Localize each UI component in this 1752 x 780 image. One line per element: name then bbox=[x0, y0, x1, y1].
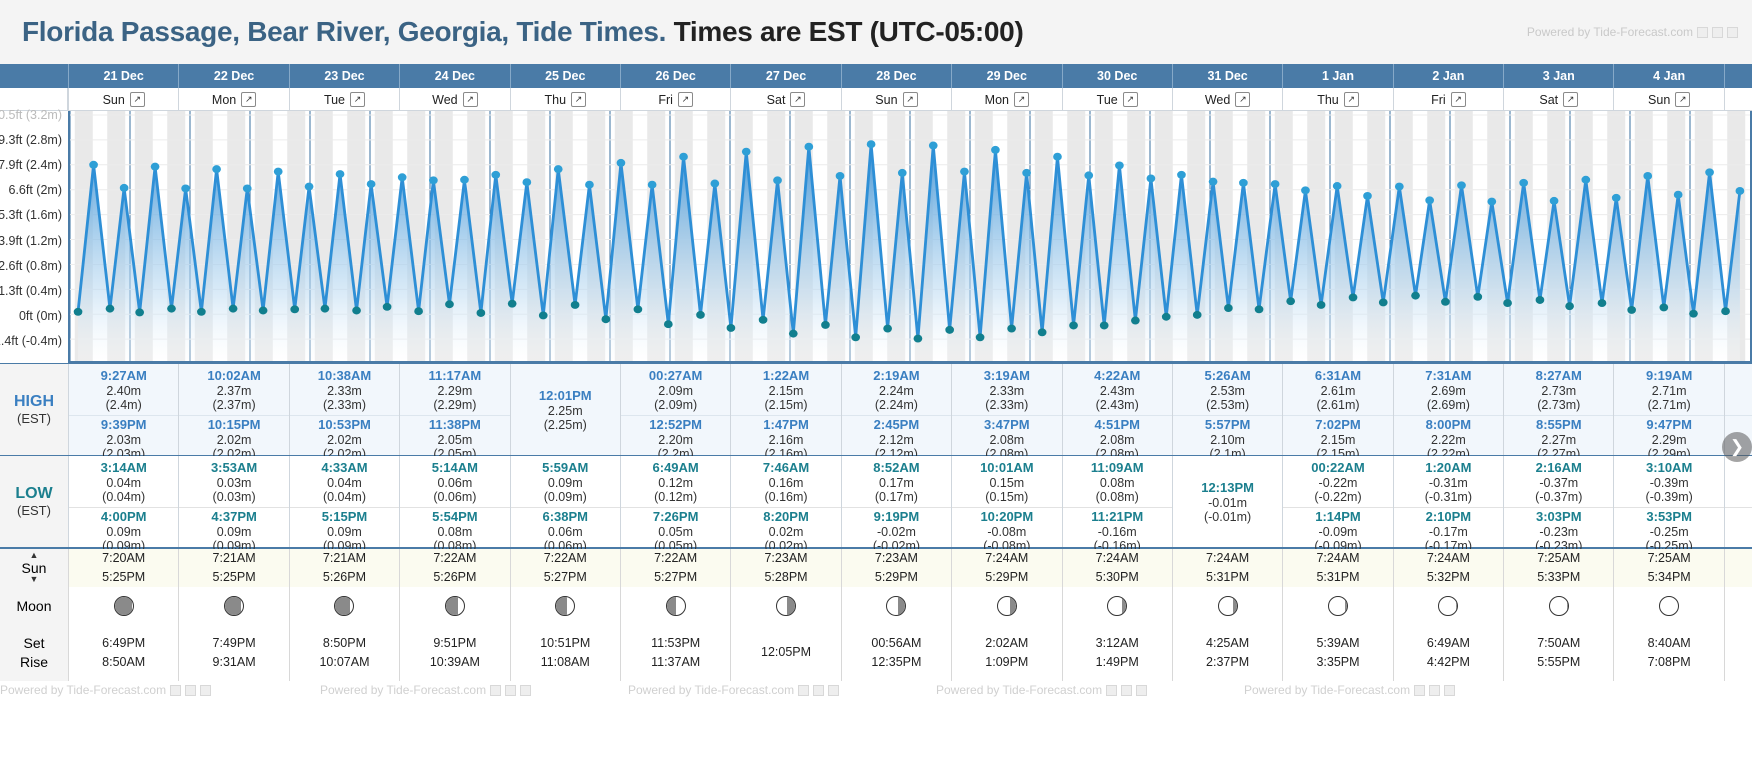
tide-time: 2:16AM bbox=[1504, 461, 1613, 476]
tide-entry: 1:22AM2.15m(2.15m) bbox=[731, 367, 840, 415]
weekday-cell[interactable]: Wed↗ bbox=[399, 88, 509, 111]
date-header-cell[interactable]: 31 Dec bbox=[1172, 64, 1282, 88]
tide-height: 0.17m bbox=[842, 476, 951, 490]
tide-height: 0.06m bbox=[511, 525, 620, 539]
y-axis-tick-label: 0ft (0m) bbox=[19, 309, 62, 323]
sunrise-time: 7:22AM bbox=[654, 549, 697, 568]
tide-entry: 9:27AM2.40m(2.4m) bbox=[69, 367, 178, 415]
tide-height-alt: (2.29m) bbox=[400, 398, 509, 412]
date-header-cell[interactable]: 29 Dec bbox=[951, 64, 1061, 88]
tide-entry: 7:31AM2.69m(2.69m) bbox=[1394, 367, 1503, 415]
tide-height-alt: (0.15m) bbox=[952, 490, 1061, 504]
moonrise-time: 10:39AM bbox=[430, 653, 480, 672]
date-header-cell[interactable]: 26 Dec bbox=[620, 64, 730, 88]
tide-time: 2:45PM bbox=[842, 418, 951, 433]
tide-height-alt: (0.06m) bbox=[400, 490, 509, 504]
tide-time: 11:17AM bbox=[400, 369, 509, 384]
tide-time: 11:38PM bbox=[400, 418, 509, 433]
tide-entry: 7:46AM0.16m(0.16m) bbox=[731, 459, 840, 507]
moon-phase-icon bbox=[445, 596, 465, 616]
tide-entry: 5:26AM2.53m(2.53m) bbox=[1173, 367, 1282, 415]
moonset-time: 00:56AM bbox=[871, 634, 921, 653]
tide-time: 00:22AM bbox=[1283, 461, 1392, 476]
date-header-gutter bbox=[0, 64, 68, 88]
moonrise-time: 11:37AM bbox=[651, 653, 700, 672]
footer-powered-3: Powered by Tide-Forecast.com bbox=[628, 683, 839, 697]
moonset-time: 7:49PM bbox=[213, 634, 256, 653]
tide-time: 6:49AM bbox=[621, 461, 730, 476]
tide-height-alt: (0.09m) bbox=[511, 490, 620, 504]
moon-cell bbox=[1062, 587, 1172, 625]
tide-height: 0.09m bbox=[511, 476, 620, 490]
date-header-cell[interactable]: 30 Dec bbox=[1062, 64, 1172, 88]
tide-height: 2.27m bbox=[1504, 433, 1613, 447]
tide-entry: 5:59AM0.09m(0.09m) bbox=[511, 459, 620, 507]
tide-time: 8:00PM bbox=[1394, 418, 1503, 433]
tide-time: 4:51PM bbox=[1063, 418, 1172, 433]
moon-setrise-cell: 9:51PM10:39AM bbox=[399, 625, 509, 681]
tide-height: 2.29m bbox=[400, 384, 509, 398]
moonrise-label-text: Rise bbox=[20, 653, 48, 672]
tide-time: 4:02AM bbox=[1725, 461, 1752, 476]
moonrise-time: 11:08AM bbox=[541, 653, 590, 672]
weekday-label: Wed bbox=[432, 93, 457, 107]
moon-cell bbox=[1613, 587, 1723, 625]
tide-height-alt: (2.37m) bbox=[179, 398, 288, 412]
sun-label: ▲ Sun ▼ bbox=[0, 549, 68, 587]
tide-time: 1:14PM bbox=[1283, 510, 1392, 525]
date-header-cell[interactable]: 22 Dec bbox=[178, 64, 288, 88]
moon-cell bbox=[951, 587, 1061, 625]
tide-entry: 4:33AM0.04m(0.04m) bbox=[290, 459, 399, 507]
sun-cell: 7:25AM5:33PM bbox=[1503, 549, 1613, 587]
sun-cell: 7:23AM5:29PM bbox=[841, 549, 951, 587]
moonset-time: 10:51PM bbox=[540, 634, 590, 653]
tide-time: 8:52AM bbox=[842, 461, 951, 476]
expand-icon[interactable]: ↗ bbox=[790, 92, 805, 107]
moon-phase-icon bbox=[334, 596, 354, 616]
date-header-cell[interactable]: 4 Jan bbox=[1613, 64, 1723, 88]
tide-time: 4:39PM bbox=[1725, 510, 1752, 525]
low-tide-cell: 12:13PM-0.01m(-0.01m) bbox=[1172, 456, 1282, 547]
sunrise-time: 7:24AM bbox=[985, 549, 1028, 568]
badge-icon-2 bbox=[1712, 27, 1723, 38]
expand-icon[interactable]: ↗ bbox=[1123, 92, 1138, 107]
expand-icon[interactable]: ↗ bbox=[1451, 92, 1466, 107]
tide-height-alt: (-0.37m) bbox=[1504, 490, 1613, 504]
scroll-right-button[interactable]: ❯ bbox=[1722, 432, 1752, 462]
footer-powered-4: Powered by Tide-Forecast.com bbox=[936, 683, 1147, 697]
date-header-cell[interactable]: 5 Jan bbox=[1724, 64, 1752, 88]
date-header-cell[interactable]: 23 Dec bbox=[289, 64, 399, 88]
tide-height: 0.04m bbox=[290, 476, 399, 490]
tide-height: 0.05m bbox=[621, 525, 730, 539]
y-axis-tick-label: -1.4ft (-0.4m) bbox=[0, 334, 62, 348]
weekday-label: Fri bbox=[1431, 93, 1446, 107]
expand-icon[interactable]: ↗ bbox=[350, 92, 365, 107]
tide-entry: 12:13PM-0.01m(-0.01m) bbox=[1173, 479, 1282, 527]
high-tide-label: HIGH (EST) bbox=[0, 364, 68, 455]
badge-icon-3 bbox=[1727, 27, 1738, 38]
tide-height-alt: (0.03m) bbox=[179, 490, 288, 504]
expand-icon[interactable]: ↗ bbox=[1014, 92, 1029, 107]
tide-height: -0.31m bbox=[1394, 476, 1503, 490]
tide-height-alt: (2.71m) bbox=[1614, 398, 1723, 412]
tide-entry: 4:22AM2.43m(2.43m) bbox=[1063, 367, 1172, 415]
tide-time: 5:54PM bbox=[400, 510, 509, 525]
weekday-label: Mon bbox=[985, 93, 1009, 107]
sunset-time: 5:30PM bbox=[1096, 568, 1139, 587]
tide-time: 3:47PM bbox=[952, 418, 1061, 433]
tide-height: 2.37m bbox=[179, 384, 288, 398]
low-tide-cell: 3:10AM-0.39m(-0.39m)3:53PM-0.25m(-0.25m) bbox=[1613, 456, 1723, 547]
date-header-cell[interactable]: 2 Jan bbox=[1393, 64, 1503, 88]
high-tide-cell: 5:26AM2.53m(2.53m)5:57PM2.10m(2.1m) bbox=[1172, 364, 1282, 455]
moonrise-time: 12:05PM bbox=[761, 643, 811, 662]
moon-row: Moon bbox=[0, 587, 1752, 625]
tide-time: 11:09AM bbox=[1063, 461, 1172, 476]
weekday-cell[interactable]: Thu↗ bbox=[1282, 88, 1392, 111]
weekday-label: Fri bbox=[658, 93, 673, 107]
moon-setrise-cell: 12:05PM bbox=[730, 625, 840, 681]
moon-setrise-cell: 2:02AM1:09PM bbox=[951, 625, 1061, 681]
tide-time: 3:53PM bbox=[1614, 510, 1723, 525]
tide-height: 2.02m bbox=[290, 433, 399, 447]
tide-height-alt: (2.69m) bbox=[1394, 398, 1503, 412]
tide-height: 0.16m bbox=[731, 476, 840, 490]
tide-height: 0.09m bbox=[290, 525, 399, 539]
sun-cell: 7:25AM5:34PM bbox=[1613, 549, 1723, 587]
tide-time: 6:31AM bbox=[1283, 369, 1392, 384]
weekday-cell[interactable]: Mon↗ bbox=[951, 88, 1061, 111]
high-tide-cell: 4:22AM2.43m(2.43m)4:51PM2.08m(2.08m) bbox=[1062, 364, 1172, 455]
low-tide-row: LOW (EST) 3:14AM0.04m(0.04m)4:00PM0.09m(… bbox=[0, 455, 1752, 547]
high-tide-label-text: HIGH bbox=[14, 393, 54, 411]
tide-height-alt: (-0.22m) bbox=[1283, 490, 1392, 504]
sunset-time: 5:31PM bbox=[1206, 568, 1249, 587]
tide-curve bbox=[70, 111, 1750, 361]
moon-setrise-cell: 6:49PM8:50AM bbox=[68, 625, 178, 681]
tide-time: 7:46AM bbox=[731, 461, 840, 476]
tide-entry: 10:09AM2.64m(2.64m) bbox=[1725, 367, 1752, 415]
weekday-label: Tue bbox=[324, 93, 345, 107]
moon-phase-icon bbox=[555, 596, 575, 616]
tide-height: -0.02m bbox=[842, 525, 951, 539]
moon-setrise-cell: 4:25AM2:37PM bbox=[1172, 625, 1282, 681]
moon-cell bbox=[1724, 587, 1752, 625]
weekday-cell[interactable]: Tue↗ bbox=[289, 88, 399, 111]
sun-cells: 7:20AM5:25PM7:21AM5:25PM7:21AM5:26PM7:22… bbox=[68, 549, 1752, 587]
tide-time: 5:15PM bbox=[290, 510, 399, 525]
tide-height: 2.22m bbox=[1394, 433, 1503, 447]
tide-height-alt: (2.53m) bbox=[1173, 398, 1282, 412]
moon-setrise-cell: 11:53PM11:37AM bbox=[620, 625, 730, 681]
weekday-cell[interactable]: Thu↗ bbox=[510, 88, 620, 111]
moonset-time: 8:50PM bbox=[323, 634, 366, 653]
tide-height: 0.03m bbox=[179, 476, 288, 490]
y-axis-tick-label: 6.6ft (2m) bbox=[9, 183, 63, 197]
weekday-cell[interactable]: Sat↗ bbox=[1503, 88, 1613, 111]
tide-time: 8:20PM bbox=[731, 510, 840, 525]
moonset-time: 7:50AM bbox=[1537, 634, 1580, 653]
sunrise-time: 7:24AM bbox=[1316, 549, 1359, 568]
tide-time: 12:01PM bbox=[511, 389, 620, 404]
sun-cell: 7:24AM5:29PM bbox=[951, 549, 1061, 587]
date-header-cell[interactable]: 27 Dec bbox=[730, 64, 840, 88]
moon-setrise-cell: 9:22AM8:17PM bbox=[1724, 625, 1752, 681]
tide-height: 2.15m bbox=[1283, 433, 1392, 447]
moon-cells bbox=[68, 587, 1752, 625]
moonrise-time: 3:35PM bbox=[1316, 653, 1359, 672]
tide-entry: 8:27AM2.73m(2.73m) bbox=[1504, 367, 1613, 415]
weekday-gutter bbox=[0, 88, 68, 110]
powered-by-label: Powered by Tide-Forecast.com bbox=[1527, 25, 1693, 39]
low-tide-cell: 5:14AM0.06m(0.06m)5:54PM0.08m(0.08m) bbox=[399, 456, 509, 547]
weekday-cell[interactable]: Sun↗ bbox=[68, 88, 178, 111]
date-header-cell[interactable]: 1 Jan bbox=[1282, 64, 1392, 88]
sunset-time: 5:32PM bbox=[1427, 568, 1470, 587]
tide-height-alt: (0.08m) bbox=[1063, 490, 1172, 504]
sunrise-time: 7:24AM bbox=[1096, 549, 1139, 568]
moonset-time: 4:25AM bbox=[1206, 634, 1249, 653]
expand-icon[interactable]: ↗ bbox=[241, 92, 256, 107]
y-axis-tick-label: 9.3ft (2.8m) bbox=[0, 133, 62, 147]
expand-icon[interactable]: ↗ bbox=[1563, 92, 1578, 107]
expand-icon[interactable]: ↗ bbox=[903, 92, 918, 107]
high-tide-cell: 9:27AM2.40m(2.4m)9:39PM2.03m(2.03m) bbox=[68, 364, 178, 455]
tide-height: 2.29m bbox=[1614, 433, 1723, 447]
low-tide-cell: 1:20AM-0.31m(-0.31m)2:10PM-0.17m(-0.17m) bbox=[1393, 456, 1503, 547]
high-tide-cells: 9:27AM2.40m(2.4m)9:39PM2.03m(2.03m)10:02… bbox=[68, 364, 1752, 455]
date-header-cell[interactable]: 24 Dec bbox=[399, 64, 509, 88]
expand-icon[interactable]: ↗ bbox=[1675, 92, 1690, 107]
moon-cell bbox=[289, 587, 399, 625]
tide-entry: 00:27AM2.09m(2.09m) bbox=[621, 367, 730, 415]
tide-time: 1:47PM bbox=[731, 418, 840, 433]
weekday-cell[interactable]: Sun↗ bbox=[1613, 88, 1723, 111]
tide-height: 2.33m bbox=[952, 384, 1061, 398]
date-header-cell[interactable]: 25 Dec bbox=[510, 64, 620, 88]
weekday-cell[interactable]: Fri↗ bbox=[620, 88, 730, 111]
page-title-location: Florida Passage, Bear River, Georgia, Ti… bbox=[22, 16, 666, 47]
tide-height: 0.15m bbox=[952, 476, 1061, 490]
sun-cell: 7:24AM5:32PM bbox=[1393, 549, 1503, 587]
weekday-cell[interactable]: Fri↗ bbox=[1393, 88, 1503, 111]
date-header-cell[interactable]: 28 Dec bbox=[841, 64, 951, 88]
tide-height: 2.40m bbox=[69, 384, 178, 398]
sunrise-time: 7:22AM bbox=[544, 549, 587, 568]
sun-label-text: Sun bbox=[22, 561, 47, 576]
tide-height: 2.24m bbox=[842, 384, 951, 398]
tide-height: 2.03m bbox=[69, 433, 178, 447]
sunrise-time: 7:25AM bbox=[1537, 549, 1580, 568]
tide-height: 2.53m bbox=[1173, 384, 1282, 398]
tide-height: 0.12m bbox=[621, 476, 730, 490]
moon-setrise-cell: 6:49AM4:42PM bbox=[1393, 625, 1503, 681]
tide-entry: 5:14AM0.06m(0.06m) bbox=[400, 459, 509, 507]
tide-entry: 3:19AM2.33m(2.33m) bbox=[952, 367, 1061, 415]
moon-cell bbox=[178, 587, 288, 625]
moon-phase-icon bbox=[114, 596, 134, 616]
tide-time: 8:55PM bbox=[1504, 418, 1613, 433]
moonset-time: 6:49PM bbox=[102, 634, 145, 653]
tide-height-alt: (2.64m) bbox=[1725, 398, 1752, 412]
low-tide-cell: 10:01AM0.15m(0.15m)10:20PM-0.08m(-0.08m) bbox=[951, 456, 1061, 547]
tide-time: 7:26PM bbox=[621, 510, 730, 525]
expand-icon[interactable]: ↗ bbox=[1235, 92, 1250, 107]
moonrise-time: 12:35PM bbox=[871, 653, 921, 672]
tide-time: 12:13PM bbox=[1173, 481, 1282, 496]
sun-cell: 7:22AM5:27PM bbox=[620, 549, 730, 587]
powered-by-header: Powered by Tide-Forecast.com bbox=[1527, 25, 1738, 39]
tide-time: 10:15PM bbox=[179, 418, 288, 433]
tide-time: 10:20PM bbox=[952, 510, 1061, 525]
moonset-time: 8:40AM bbox=[1648, 634, 1691, 653]
sunrise-time: 7:24AM bbox=[1427, 549, 1470, 568]
tide-height: 2.61m bbox=[1283, 384, 1392, 398]
moonrise-time: 2:37PM bbox=[1206, 653, 1249, 672]
sunrise-time: 7:20AM bbox=[102, 549, 145, 568]
moon-setrise-cell: 7:50AM5:55PM bbox=[1503, 625, 1613, 681]
tide-time: 9:19AM bbox=[1614, 369, 1723, 384]
high-tide-cell: 11:17AM2.29m(2.29m)11:38PM2.05m(2.05m) bbox=[399, 364, 509, 455]
sunset-time: 5:31PM bbox=[1316, 568, 1359, 587]
weekday-label: Mon bbox=[212, 93, 236, 107]
moon-cell bbox=[68, 587, 178, 625]
sunset-time: 5:25PM bbox=[213, 568, 256, 587]
page-title: Florida Passage, Bear River, Georgia, Ti… bbox=[22, 16, 1023, 48]
moonset-time: 11:53PM bbox=[651, 634, 700, 653]
tide-time: 6:38PM bbox=[511, 510, 620, 525]
tide-sheet: 21 Dec22 Dec23 Dec24 Dec25 Dec26 Dec27 D… bbox=[0, 64, 1752, 703]
tide-height: -0.09m bbox=[1283, 525, 1392, 539]
tide-height: 2.20m bbox=[621, 433, 730, 447]
tide-height: -0.01m bbox=[1173, 496, 1282, 510]
moon-setrise-cell: 3:12AM1:49PM bbox=[1062, 625, 1172, 681]
tide-time: 10:01AM bbox=[952, 461, 1061, 476]
weekday-cells: Sun↗Mon↗Tue↗Wed↗Thu↗Fri↗Sat↗Sun↗Mon↗Tue↗… bbox=[68, 88, 1752, 110]
moonrise-time: 9:31AM bbox=[213, 653, 256, 672]
tide-time: 10:02AM bbox=[179, 369, 288, 384]
expand-icon[interactable]: ↗ bbox=[571, 92, 586, 107]
moon-setrise-cell: 00:56AM12:35PM bbox=[841, 625, 951, 681]
y-axis-tick-label: 5.3ft (1.6m) bbox=[0, 208, 62, 222]
tide-entry: 11:17AM2.29m(2.29m) bbox=[400, 367, 509, 415]
moonrise-time: 1:49PM bbox=[1096, 653, 1139, 672]
moon-cell bbox=[841, 587, 951, 625]
low-tide-cell: 00:22AM-0.22m(-0.22m)1:14PM-0.09m(-0.09m… bbox=[1282, 456, 1392, 547]
tide-entry: 3:53AM0.03m(0.03m) bbox=[179, 459, 288, 507]
tide-height: 2.71m bbox=[1614, 384, 1723, 398]
low-tide-cell: 3:53AM0.03m(0.03m)4:37PM0.09m(0.09m) bbox=[178, 456, 288, 547]
moonrise-time: 5:55PM bbox=[1537, 653, 1580, 672]
tide-time: 11:21PM bbox=[1063, 510, 1172, 525]
high-tide-row: HIGH (EST) 9:27AM2.40m(2.4m)9:39PM2.03m(… bbox=[0, 363, 1752, 455]
tide-height-alt: (0.04m) bbox=[290, 490, 399, 504]
weekday-label: Sat bbox=[1539, 93, 1558, 107]
sun-row: ▲ Sun ▼ 7:20AM5:25PM7:21AM5:25PM7:21AM5:… bbox=[0, 547, 1752, 587]
tide-height: -0.23m bbox=[1504, 525, 1613, 539]
date-header-cell[interactable]: 3 Jan bbox=[1503, 64, 1613, 88]
tide-height-alt: (2.43m) bbox=[1063, 398, 1172, 412]
tide-height-alt: (-0.37m) bbox=[1725, 490, 1752, 504]
expand-icon[interactable]: ↗ bbox=[1344, 92, 1359, 107]
tide-time: 3:19AM bbox=[952, 369, 1061, 384]
sunset-time: 5:26PM bbox=[433, 568, 476, 587]
sunrise-time: 7:23AM bbox=[875, 549, 918, 568]
weekday-cell[interactable]: Mon↗ bbox=[178, 88, 288, 111]
tide-entry: 3:14AM0.04m(0.04m) bbox=[69, 459, 178, 507]
tide-entry: 10:01AM0.15m(0.15m) bbox=[952, 459, 1061, 507]
tide-time: 1:20AM bbox=[1394, 461, 1503, 476]
moonrise-time: 10:07AM bbox=[319, 653, 369, 672]
expand-icon[interactable]: ↗ bbox=[463, 92, 478, 107]
moon-setrise-cell: 5:39AM3:35PM bbox=[1282, 625, 1392, 681]
moon-cell bbox=[620, 587, 730, 625]
expand-icon[interactable]: ↗ bbox=[130, 92, 145, 107]
weekday-cell[interactable]: Tue↗ bbox=[1062, 88, 1172, 111]
low-tide-label: LOW (EST) bbox=[0, 456, 68, 547]
weekday-label: Tue bbox=[1097, 93, 1118, 107]
moonrise-time: 7:08PM bbox=[1648, 653, 1691, 672]
tide-time: 7:31AM bbox=[1394, 369, 1503, 384]
weekday-cell[interactable]: Wed↗ bbox=[1172, 88, 1282, 111]
low-tide-cell: 5:59AM0.09m(0.09m)6:38PM0.06m(0.06m) bbox=[510, 456, 620, 547]
moonset-label-text: Set bbox=[23, 634, 44, 653]
sunrise-time: 7:21AM bbox=[213, 549, 256, 568]
tide-height: -0.39m bbox=[1614, 476, 1723, 490]
tide-entry: 12:01PM2.25m(2.25m) bbox=[511, 387, 620, 435]
moon-phase-icon bbox=[1659, 596, 1679, 616]
tide-time: 2:10PM bbox=[1394, 510, 1503, 525]
tide-entry: 6:49AM0.12m(0.12m) bbox=[621, 459, 730, 507]
sun-cell: 7:24AM5:30PM bbox=[1062, 549, 1172, 587]
badge-icon-1 bbox=[1697, 27, 1708, 38]
moon-phase-icon bbox=[666, 596, 686, 616]
tide-height-alt: (2.61m) bbox=[1283, 398, 1392, 412]
tide-height: 0.06m bbox=[400, 476, 509, 490]
moon-setrise-cell: 10:51PM11:08AM bbox=[510, 625, 620, 681]
tide-time: 3:14AM bbox=[69, 461, 178, 476]
weekday-cell[interactable]: Sun↗ bbox=[841, 88, 951, 111]
tide-time: 3:03PM bbox=[1504, 510, 1613, 525]
tide-time: 1:22AM bbox=[731, 369, 840, 384]
high-tide-cell: 3:19AM2.33m(2.33m)3:47PM2.08m(2.08m) bbox=[951, 364, 1061, 455]
weekday-cell[interactable]: Mon↗ bbox=[1724, 88, 1752, 111]
tide-height: 0.02m bbox=[731, 525, 840, 539]
tide-entry: 2:16AM-0.37m(-0.37m) bbox=[1504, 459, 1613, 507]
weekday-cell[interactable]: Sat↗ bbox=[730, 88, 840, 111]
weekday-label: Sun bbox=[1648, 93, 1670, 107]
expand-icon[interactable]: ↗ bbox=[678, 92, 693, 107]
tide-height: 2.15m bbox=[731, 384, 840, 398]
moon-phase-icon bbox=[224, 596, 244, 616]
sunrise-time: 7:21AM bbox=[323, 549, 366, 568]
date-header-cell[interactable]: 21 Dec bbox=[68, 64, 178, 88]
moon-setrise-cell: 8:50PM10:07AM bbox=[289, 625, 399, 681]
moonset-time: 2:02AM bbox=[985, 634, 1028, 653]
tide-height-alt: (2.25m) bbox=[511, 418, 620, 432]
moonset-time: 3:12AM bbox=[1096, 634, 1139, 653]
tide-entry: 00:22AM-0.22m(-0.22m) bbox=[1283, 459, 1392, 507]
tide-height: 2.08m bbox=[952, 433, 1061, 447]
sun-cell: 7:23AM5:28PM bbox=[730, 549, 840, 587]
high-tide-cell: 10:02AM2.37m(2.37m)10:15PM2.02m(2.02m) bbox=[178, 364, 288, 455]
tide-height-alt: (-0.39m) bbox=[1614, 490, 1723, 504]
moon-setrise-row: Set Rise 6:49PM8:50AM7:49PM9:31AM8:50PM1… bbox=[0, 625, 1752, 681]
moon-phase-icon bbox=[1438, 596, 1458, 616]
tide-time: 9:19PM bbox=[842, 510, 951, 525]
